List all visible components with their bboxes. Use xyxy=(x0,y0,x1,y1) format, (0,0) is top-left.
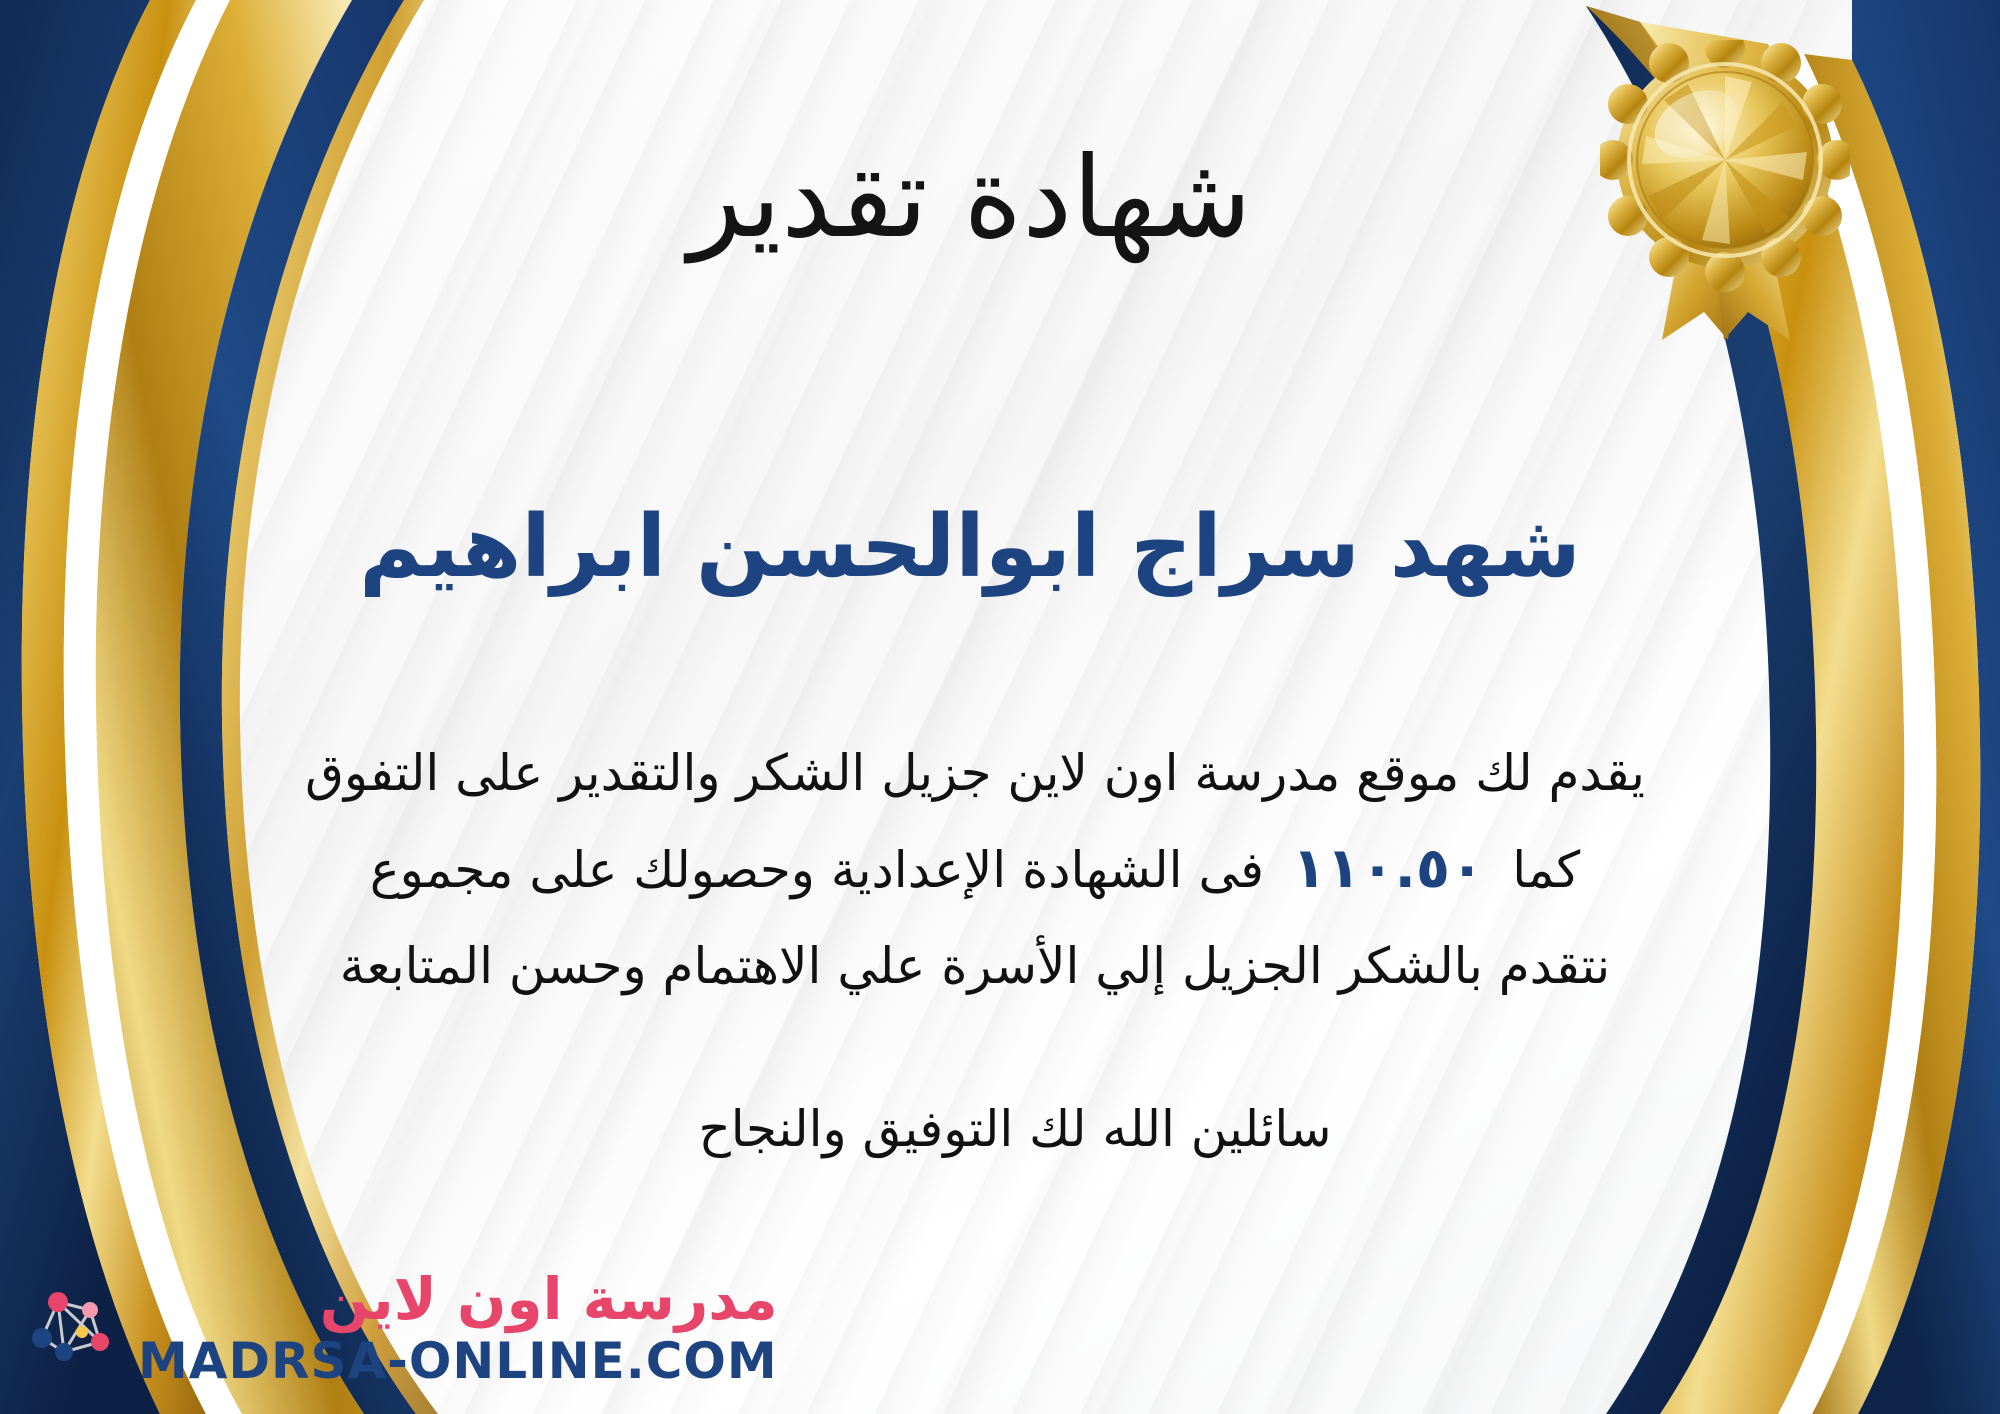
brand-text: مدرسة اون لاين MADRSA-ONLINE.COM xyxy=(138,1270,778,1386)
body-line-2-left: فى الشهادة الإعدادية وحصولك على مجموع xyxy=(370,841,1264,899)
brand-website: MADRSA-ONLINE.COM xyxy=(138,1336,778,1386)
recipient-name: شهد سراج ابوالحسن ابراهيم xyxy=(110,500,1830,595)
grade-value: ١١٠.٥٠ xyxy=(1264,836,1512,901)
body-line-2-right: كما xyxy=(1512,841,1580,899)
certificate-content: شهادة تقدير شهد سراج ابوالحسن ابراهيم يق… xyxy=(110,0,1920,1414)
page-title: شهادة تقدير xyxy=(110,140,1830,258)
brand-logo[interactable]: مدرسة اون لاين MADRSA-ONLINE.COM xyxy=(28,1270,778,1386)
certificate-canvas: شهادة تقدير شهد سراج ابوالحسن ابراهيم يق… xyxy=(0,0,2000,1414)
body-line-3: نتقدم بالشكر الجزيل إلي الأسرة علي الاهت… xyxy=(70,918,1880,1014)
closing-line: سائلين الله لك التوفيق والنجاح xyxy=(110,1100,1920,1158)
brand-name-arabic: مدرسة اون لاين xyxy=(320,1270,778,1328)
network-nodes-icon xyxy=(28,1280,124,1376)
body-text: يقدم لك موقع مدرسة اون لاين جزيل الشكر و… xyxy=(70,725,1880,1014)
body-line-1: يقدم لك موقع مدرسة اون لاين جزيل الشكر و… xyxy=(70,725,1880,821)
body-line-2: كما١١٠.٥٠فى الشهادة الإعدادية وحصولك على… xyxy=(70,821,1880,918)
